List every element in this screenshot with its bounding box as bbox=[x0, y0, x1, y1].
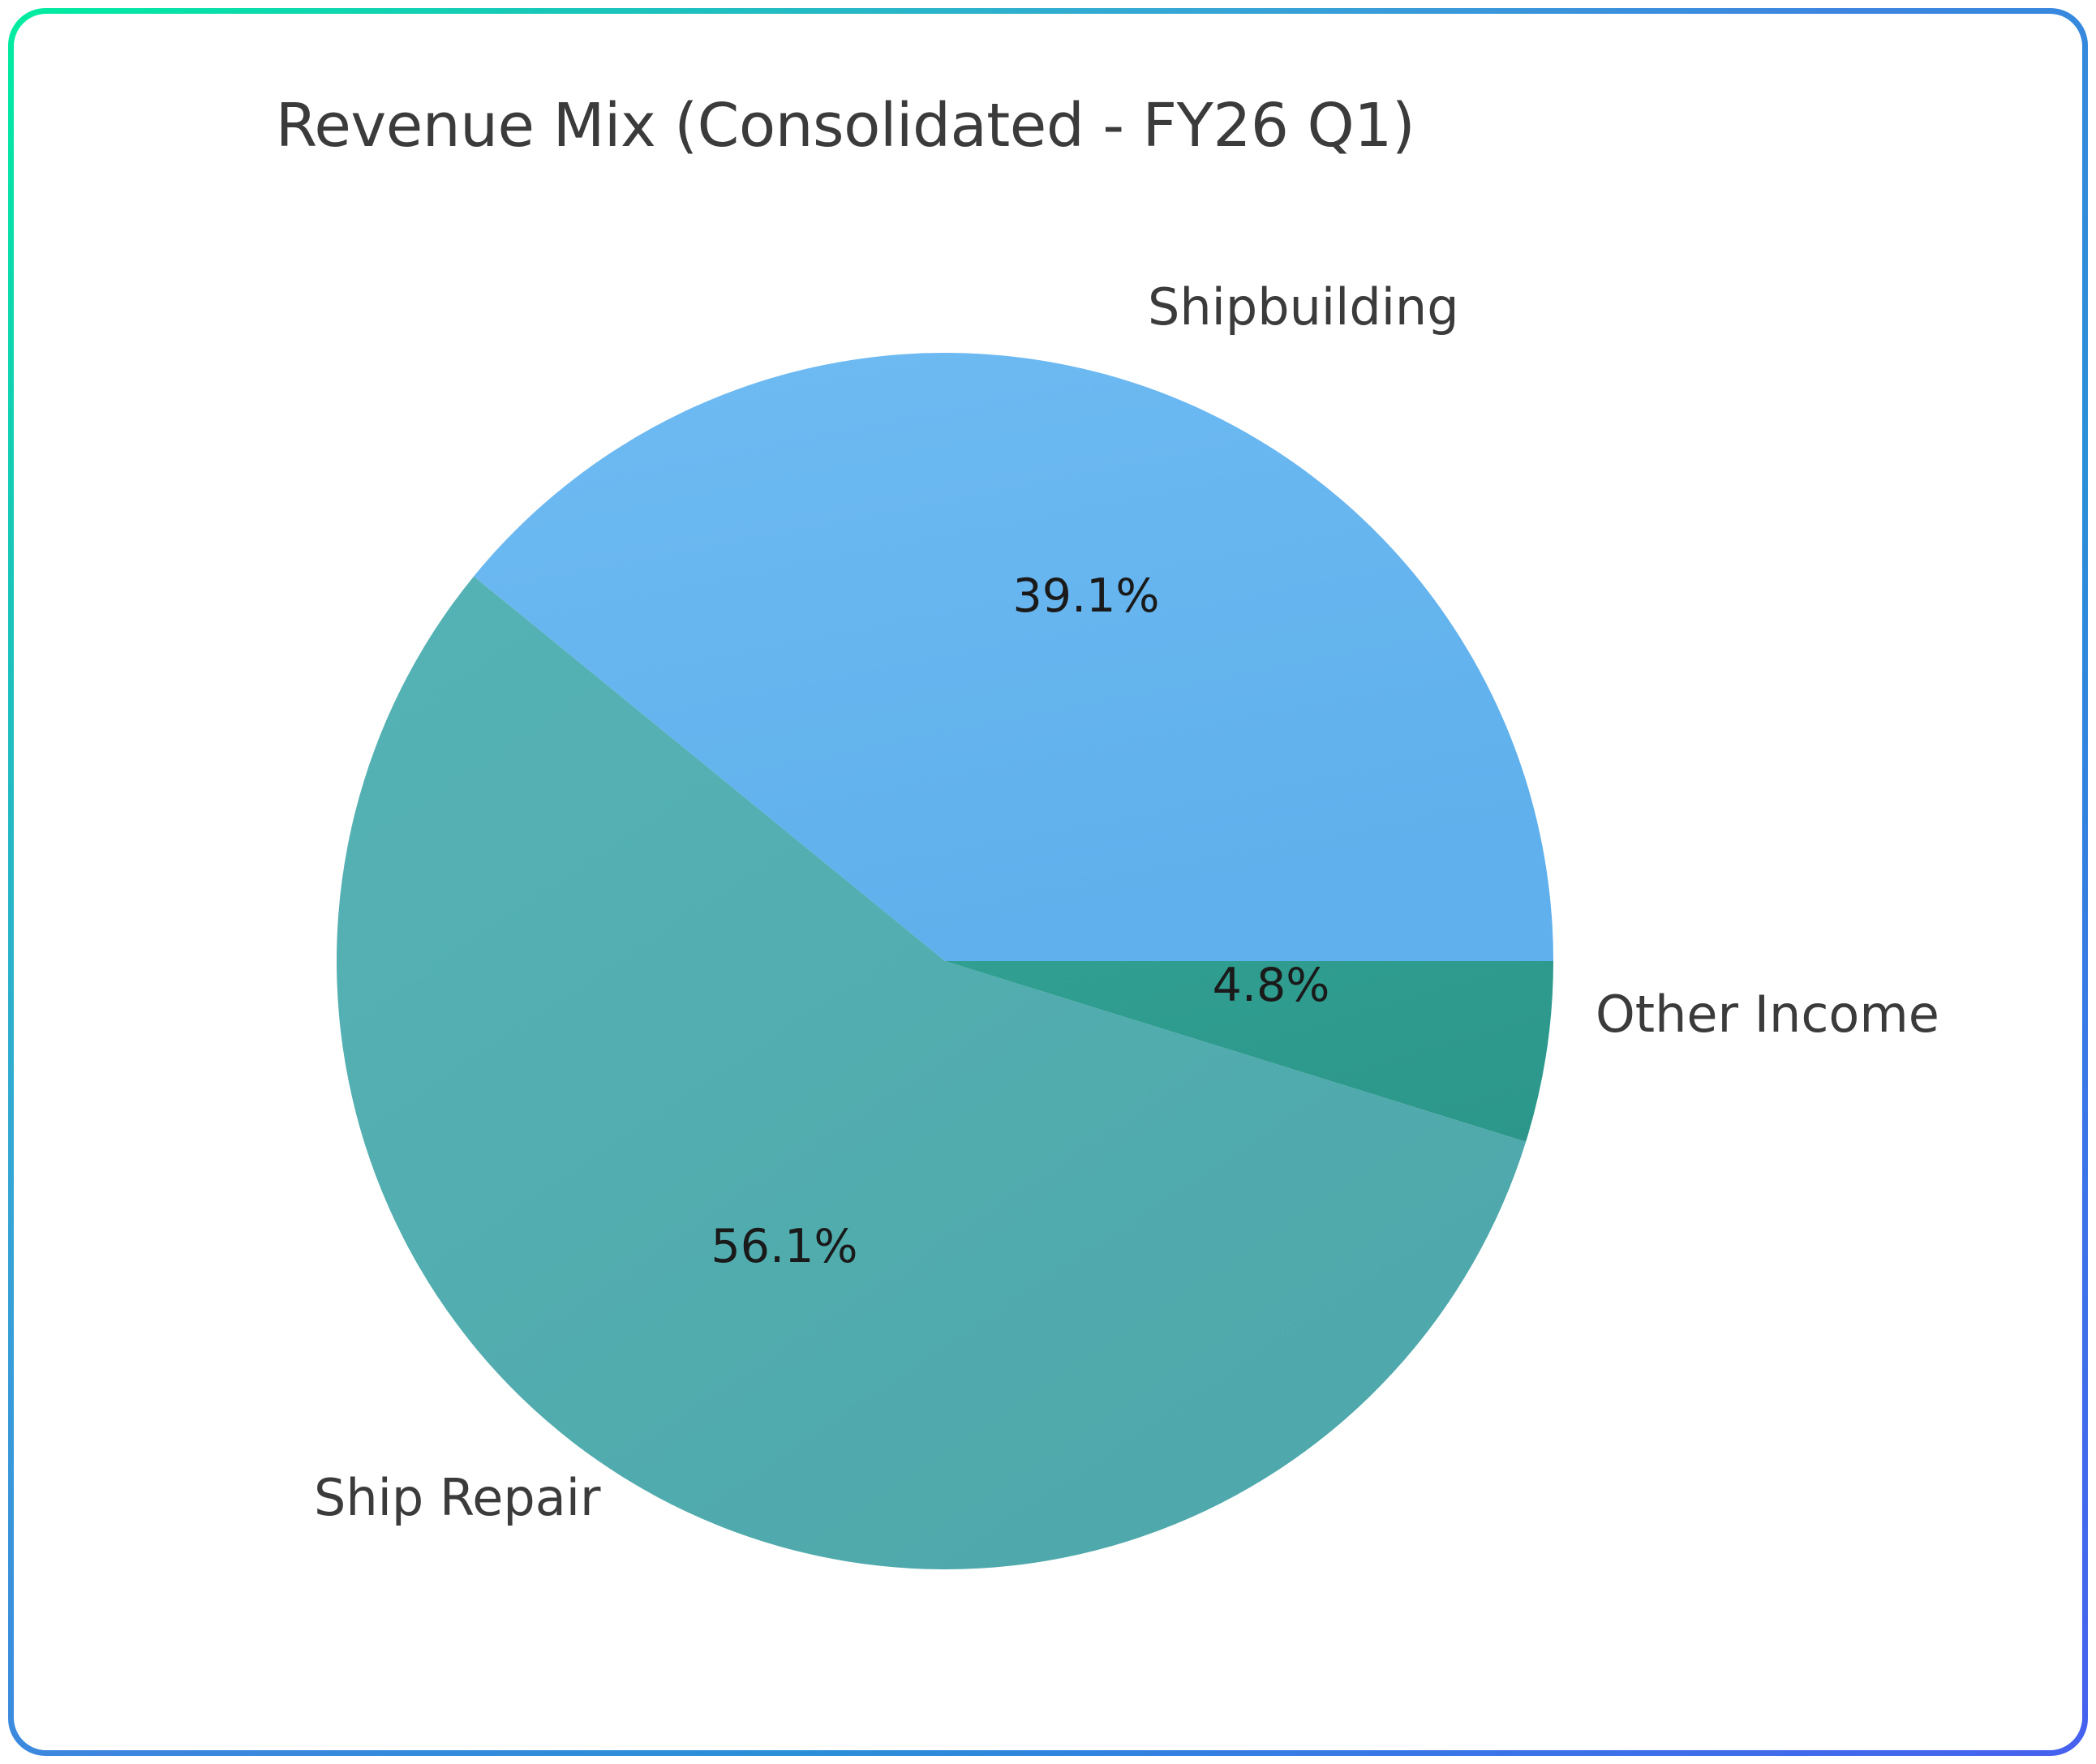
pie-percent-label-other-income: 4.8% bbox=[1133, 959, 1409, 1012]
pie-percent-label-ship-repair: 56.1% bbox=[646, 1220, 922, 1273]
pie-chart-figure: Revenue Mix (Consolidated - FY26 Q1) bbox=[14, 14, 2082, 1750]
pie-percent-label-shipbuilding: 39.1% bbox=[948, 569, 1224, 623]
chart-screenshot: Revenue Mix (Consolidated - FY26 Q1) bbox=[0, 0, 2096, 1764]
chart-title: Revenue Mix (Consolidated - FY26 Q1) bbox=[14, 91, 1677, 161]
pie-category-label-shipbuilding: Shipbuilding bbox=[1148, 277, 1459, 337]
pie-category-label-other-income: Other Income bbox=[1596, 985, 1939, 1044]
pie-category-label-ship-repair: Ship Repair bbox=[314, 1468, 600, 1527]
